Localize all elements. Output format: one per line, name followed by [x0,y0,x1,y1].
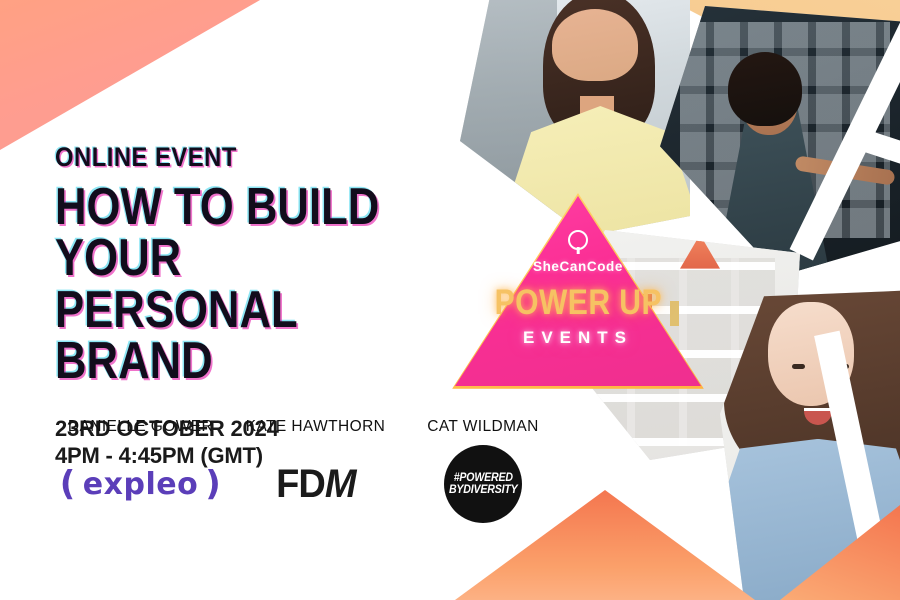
pbd-text: #POWERED BYDIVERSITY [449,472,518,497]
pbd-badge: #POWERED BYDIVERSITY [444,445,522,523]
pbd-line-1: #POWERED [449,472,518,484]
fdm-slanted-m: M [325,462,355,507]
fdm-wordmark: FD M [276,462,355,507]
event-promo-poster: SheCanCode POWER UP EVENTS ONLINE EVENT … [0,0,900,600]
speaker-3: CAT WILDMAN [398,418,568,436]
expleo-bracket-left: ( [60,464,76,504]
power-up-title: POWER UP [494,285,661,320]
expleo-bracket-right: ) [205,464,221,504]
triangle-content: SheCanCode POWER UP EVENTS [455,196,701,386]
photo-hair [728,52,802,126]
speaker-1: DANIELLE GOWER [48,418,233,436]
power-up-subtitle: EVENTS [523,328,633,348]
sponsor-logo-row: ( expleo ) FD M #POWERED BYDIVERSITY [48,452,568,516]
logo-powered-by-diversity: #POWERED BYDIVERSITY [398,452,568,516]
photo-face [552,9,638,81]
speaker-name-row: DANIELLE GOWER KATE HAWTHORN CAT WILDMAN [48,418,568,436]
title-line-1: HOW TO BUILD YOUR [55,182,383,285]
power-up-triangle-logo: SheCanCode POWER UP EVENTS [455,196,701,386]
event-eyebrow: ONLINE EVENT [55,142,398,173]
title-line-2: PERSONAL BRAND [55,285,383,388]
logo-fdm: FD M [233,452,398,516]
pbd-line-2: BYDIVERSITY [449,484,518,496]
expleo-wordmark: ( expleo ) [60,464,222,504]
speaker-name: DANIELLE GOWER [48,418,233,436]
circle-stem-icon [568,230,588,250]
expleo-text: expleo [83,467,198,502]
corner-wedge-top-left [0,0,260,150]
speaker-2: KATE HAWTHORN [233,418,398,436]
shecancode-wordmark: SheCanCode [533,259,623,274]
logo-expleo: ( expleo ) [48,452,233,516]
fdm-text: FD [276,462,325,507]
speaker-name: KATE HAWTHORN [233,418,398,436]
photo-eye [792,364,805,369]
page-title: HOW TO BUILD YOUR PERSONAL BRAND [55,182,383,388]
speaker-name: CAT WILDMAN [398,418,568,436]
